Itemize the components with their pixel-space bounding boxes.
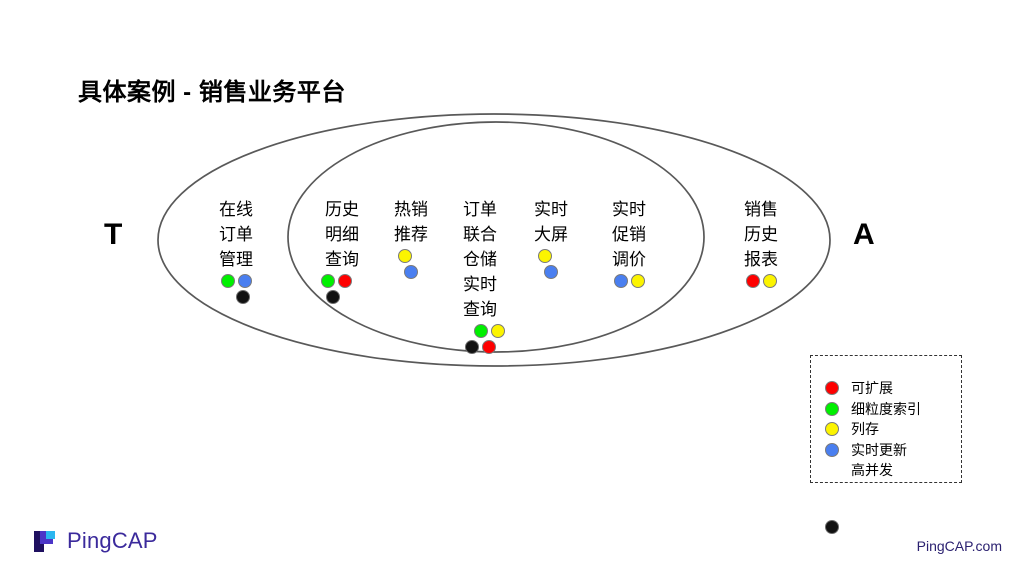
- node-capability-dots: [221, 274, 252, 306]
- dot-placeholder-icon: [825, 463, 839, 477]
- dot-green: [321, 274, 335, 288]
- legend-item-realtime-update: 实时更新: [825, 440, 921, 461]
- dot-row: [236, 290, 250, 306]
- legend-label: 列存: [851, 419, 879, 439]
- dot-yellow: [398, 249, 412, 263]
- brand-name: PingCAP: [67, 528, 158, 554]
- dot-red: [746, 274, 760, 288]
- dot-yellow: [491, 324, 505, 338]
- node-label: 在线 订单 管理: [219, 198, 253, 273]
- legend-label: 细粒度索引: [851, 399, 921, 419]
- dot-blue: [614, 274, 628, 288]
- venn-node-online-order-management[interactable]: 在线 订单 管理: [204, 198, 268, 306]
- dot-green: [221, 274, 235, 288]
- venn-node-realtime-promotion-pricing[interactable]: 实时 促销 调价: [600, 198, 658, 290]
- dot-yellow: [631, 274, 645, 288]
- dot-blue: [238, 274, 252, 288]
- legend-item-scalable: 可扩展: [825, 378, 921, 399]
- dot-yellow: [763, 274, 777, 288]
- dot-black-stray: [825, 520, 839, 534]
- legend-label: 可扩展: [851, 378, 893, 398]
- legend-item-columnar-storage: 列存: [825, 419, 921, 440]
- legend-item-high-concurrency: 高并发: [825, 460, 921, 481]
- dot-blue-icon: [825, 443, 839, 457]
- dot-blue: [404, 265, 418, 279]
- dot-row: [474, 324, 505, 340]
- venn-node-realtime-dashboard[interactable]: 实时 大屏: [522, 198, 580, 281]
- dot-red-icon: [825, 381, 839, 395]
- dot-row: [538, 249, 552, 265]
- dot-yellow-icon: [825, 422, 839, 436]
- legend-items: 可扩展 细粒度索引 列存 实时更新 高并发: [825, 378, 921, 481]
- venn-node-sales-history-report[interactable]: 销售 历史 报表: [732, 198, 790, 290]
- legend-label: 高并发: [851, 460, 893, 480]
- dot-row: [404, 265, 418, 281]
- node-label: 销售 历史 报表: [744, 198, 778, 273]
- node-label: 历史 明细 查询: [325, 198, 359, 273]
- dot-black: [465, 340, 479, 354]
- legend-box: 可扩展 细粒度索引 列存 实时更新 高并发: [810, 355, 962, 483]
- node-capability-dots: [544, 249, 558, 281]
- legend-item-fine-grained-index: 细粒度索引: [825, 399, 921, 420]
- dot-row: [465, 340, 496, 356]
- node-capability-dots: [327, 274, 358, 306]
- node-label: 订单 联合 仓储 实时 查询: [463, 198, 497, 323]
- dot-red: [482, 340, 496, 354]
- node-capability-dots: [614, 274, 645, 290]
- node-label: 实时 大屏: [534, 198, 568, 248]
- dot-row: [614, 274, 645, 290]
- venn-diagram: [0, 0, 1032, 578]
- pingcap-logo-icon: [33, 528, 59, 554]
- node-capability-dots: [746, 274, 777, 290]
- dot-green-icon: [825, 402, 839, 416]
- node-label: 实时 促销 调价: [612, 198, 646, 273]
- venn-node-hot-sale-recommendation[interactable]: 热销 推荐: [382, 198, 440, 281]
- dot-black: [326, 290, 340, 304]
- brand-logo: PingCAP: [33, 528, 158, 554]
- set-label-a: A: [853, 218, 875, 252]
- node-capability-dots: [404, 249, 418, 281]
- dot-row: [221, 274, 252, 290]
- node-capability-dots: [465, 324, 496, 356]
- dot-row: [544, 265, 558, 281]
- node-label: 热销 推荐: [394, 198, 428, 248]
- dot-green: [474, 324, 488, 338]
- set-label-t: T: [104, 218, 122, 252]
- dot-row: [326, 290, 340, 306]
- venn-node-order-warehouse-realtime-query[interactable]: 订单 联合 仓储 实时 查询: [452, 198, 508, 356]
- dot-black: [236, 290, 250, 304]
- dot-blue: [544, 265, 558, 279]
- dot-red: [338, 274, 352, 288]
- footer-url: PingCAP.com: [917, 538, 1002, 554]
- dot-row: [321, 274, 352, 290]
- legend-label: 实时更新: [851, 440, 907, 460]
- dot-row: [746, 274, 777, 290]
- venn-node-history-detail-query[interactable]: 历史 明细 查询: [312, 198, 372, 306]
- dot-row: [398, 249, 412, 265]
- dot-yellow: [538, 249, 552, 263]
